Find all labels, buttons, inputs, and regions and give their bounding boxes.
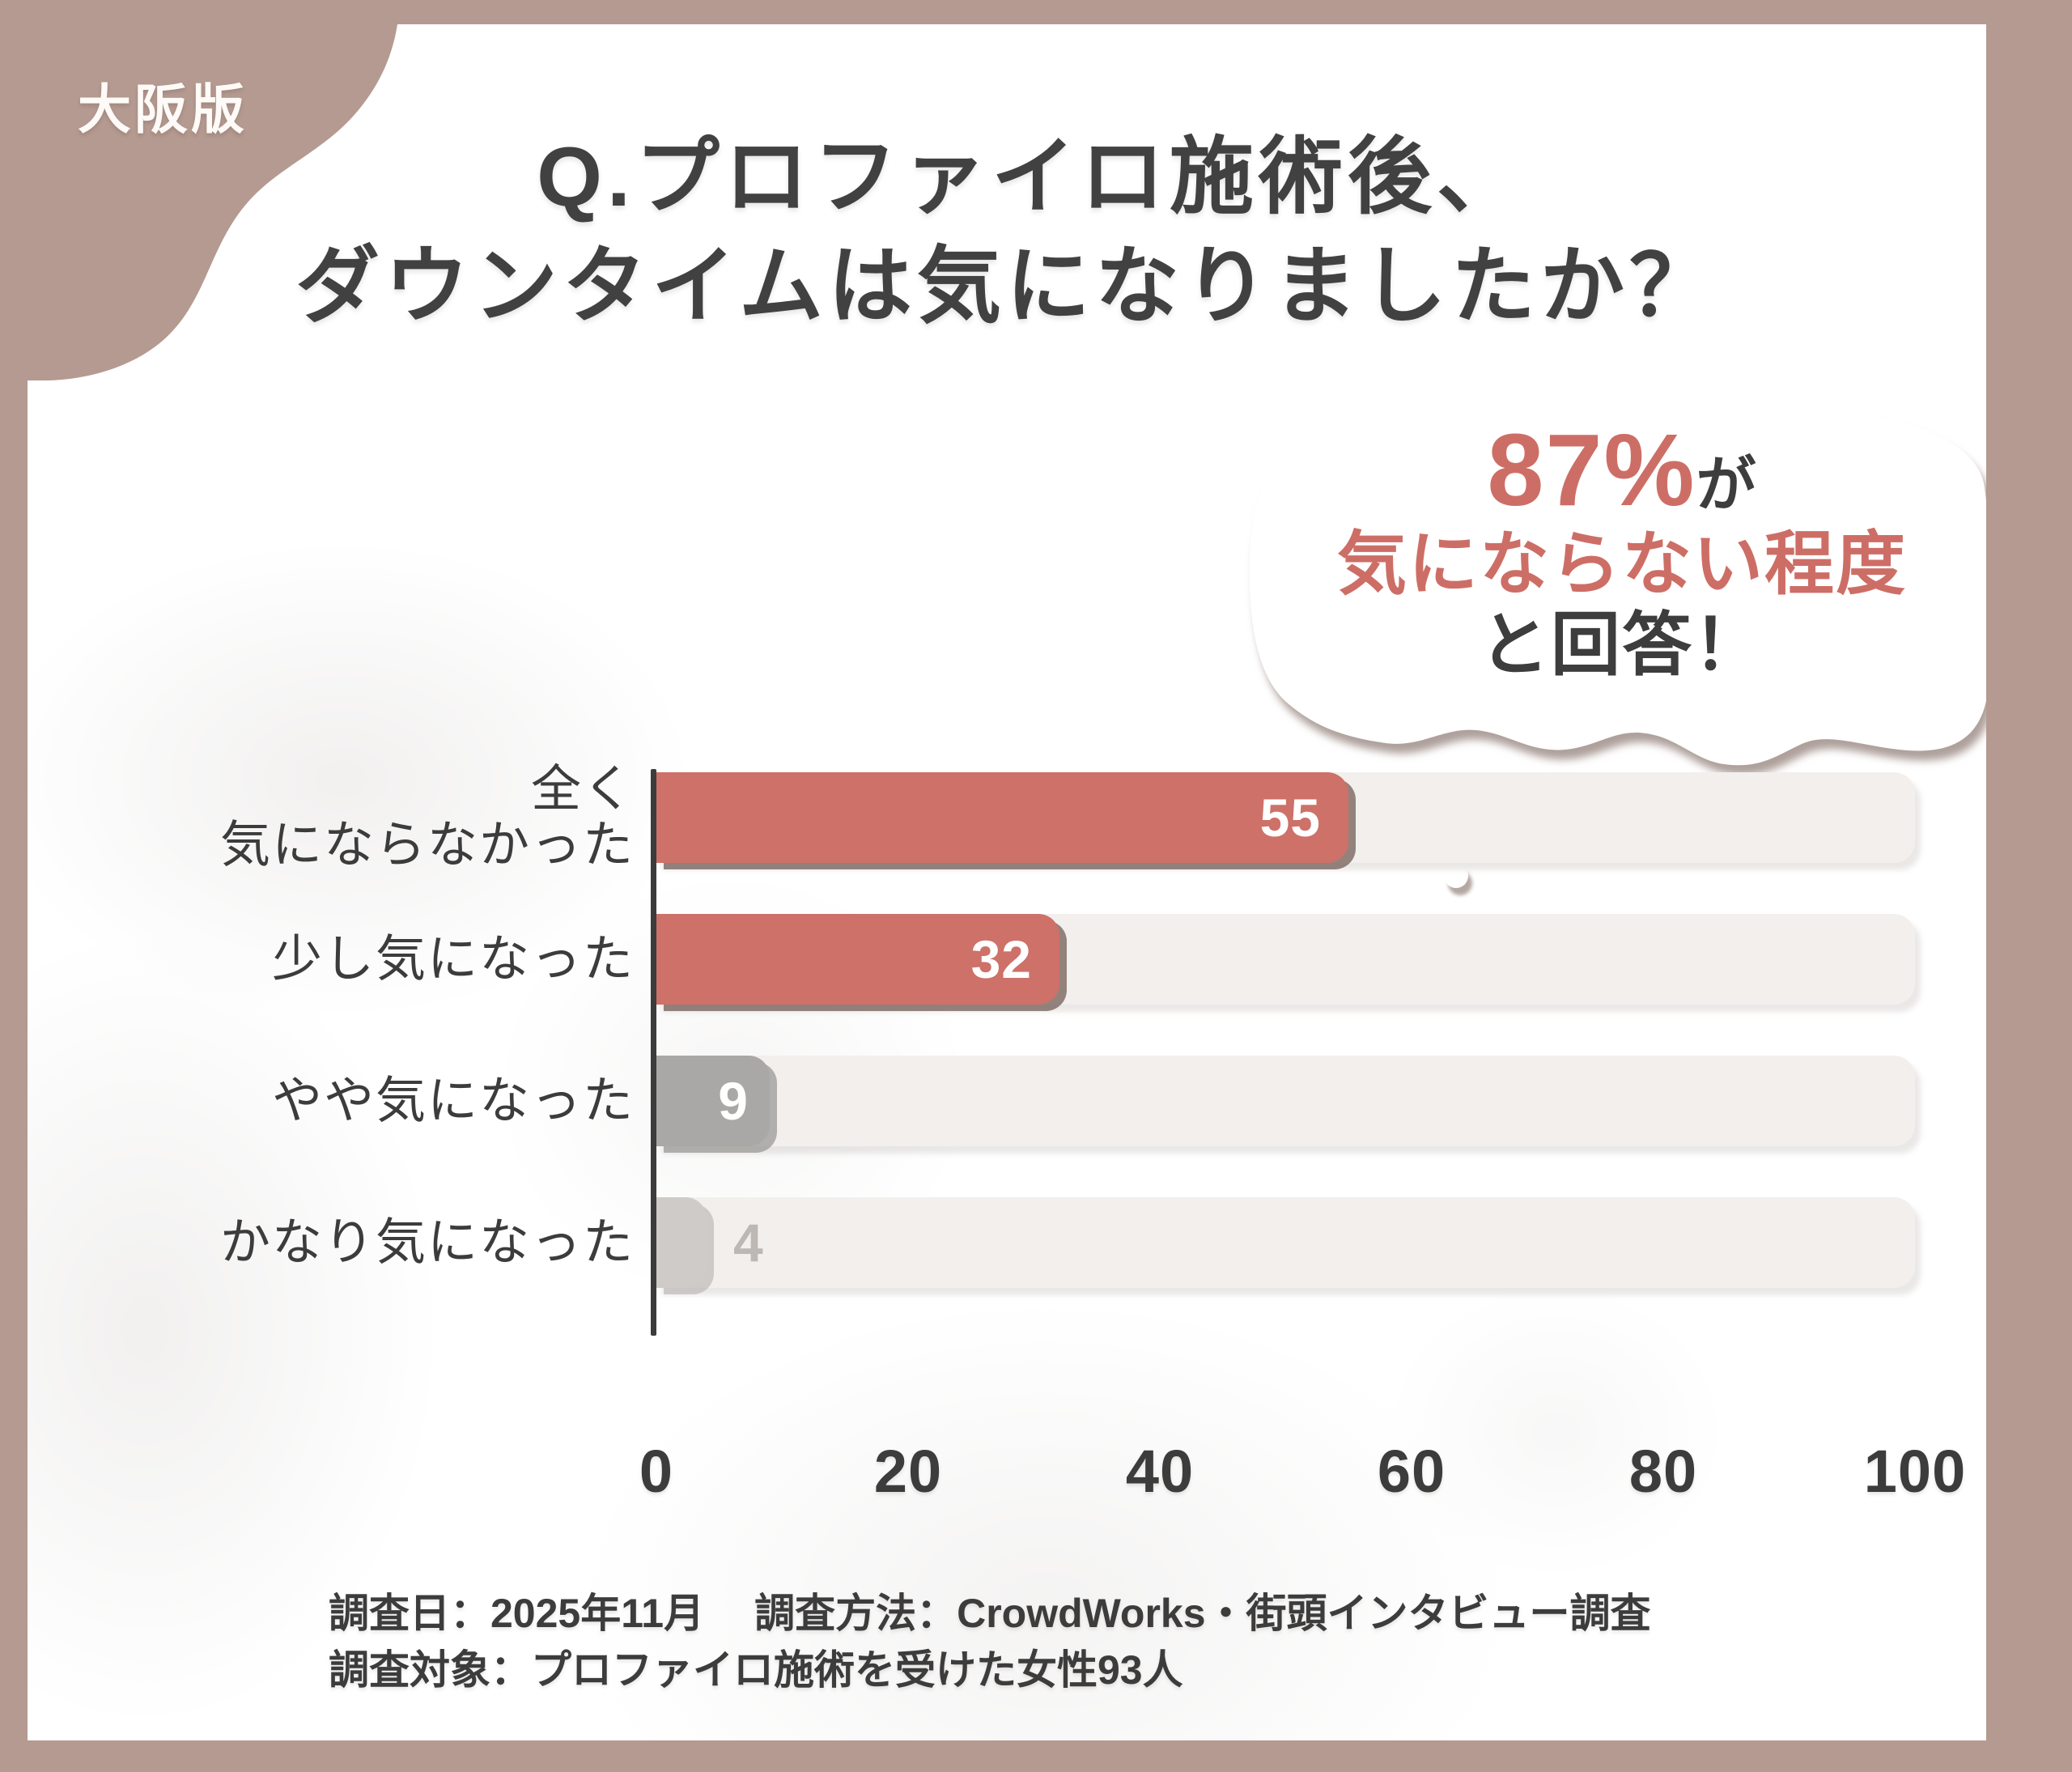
page-title: Q.プロファイロ施術後、 ダウンタイムは気になりましたか？ xyxy=(28,123,1986,342)
category-label-1-line-1: 少し気になった xyxy=(68,931,635,987)
x-tick-60: 60 xyxy=(1378,1437,1446,1506)
survey-date: 調査日：2025年11月 xyxy=(329,1591,704,1636)
bar-value-3: 4 xyxy=(733,1212,764,1273)
bar-0: 55 xyxy=(656,772,1348,863)
x-tick-0: 0 xyxy=(639,1437,673,1506)
footer-notes: 調査日：2025年11月調査方法：CrowdWorks・街頭インタビュー調査 調… xyxy=(329,1585,1651,1698)
bar-chart: 全く 気にならなかった 55 少し気になった 32 xyxy=(28,737,1986,1465)
chart-row: かなり気になった 4 xyxy=(28,1190,1986,1295)
category-label-3: かなり気になった xyxy=(68,1214,635,1270)
chart-row: 全く 気にならなかった 55 xyxy=(28,765,1986,870)
y-axis-line xyxy=(651,769,656,1336)
bar-value-0: 55 xyxy=(1260,787,1321,848)
chart-row: 少し気になった 32 xyxy=(28,907,1986,1012)
title-line-2: ダウンタイムは気になりましたか？ xyxy=(28,232,1986,342)
bar-value-2: 9 xyxy=(718,1070,749,1132)
bar-1: 32 xyxy=(656,914,1059,1005)
x-tick-100: 100 xyxy=(1864,1437,1966,1506)
category-label-0-line-2: 気にならなかった xyxy=(68,818,635,873)
bar-3 xyxy=(656,1197,707,1288)
chart-row: やや気になった 9 xyxy=(28,1048,1986,1154)
content-card: 大阪版 Q.プロファイロ施術後、 ダウンタイムは気になりましたか？ 87%が 気… xyxy=(28,24,1986,1740)
category-label-0-line-1: 全く xyxy=(68,762,635,818)
category-label-2-line-1: やや気になった xyxy=(68,1073,635,1128)
category-label-2: やや気になった xyxy=(68,1073,635,1128)
category-label-0: 全く 気にならなかった xyxy=(68,762,635,874)
x-tick-40: 40 xyxy=(1126,1437,1194,1506)
x-axis: 0 20 40 60 80 100 xyxy=(28,1437,1986,1526)
bar-track-3 xyxy=(656,1197,1915,1288)
bubble-shape xyxy=(1242,390,1986,795)
bar-2: 9 xyxy=(656,1056,770,1146)
category-label-3-line-1: かなり気になった xyxy=(68,1214,635,1270)
survey-method: 調査方法：CrowdWorks・街頭インタビュー調査 xyxy=(754,1591,1650,1636)
bar-value-1: 32 xyxy=(971,928,1032,990)
callout-bubble: 87%が 気にならない程度 と回答！ xyxy=(1242,390,1986,795)
title-line-1: Q.プロファイロ施術後、 xyxy=(28,123,1986,232)
footer-line-2: 調査対象：プロファイロ施術を受けた女性93人 xyxy=(329,1642,1651,1698)
bar-track-2 xyxy=(656,1056,1915,1146)
infographic-root: 大阪版 Q.プロファイロ施術後、 ダウンタイムは気になりましたか？ 87%が 気… xyxy=(0,0,2072,1772)
category-label-1: 少し気になった xyxy=(68,931,635,987)
footer-line-1: 調査日：2025年11月調査方法：CrowdWorks・街頭インタビュー調査 xyxy=(329,1585,1651,1642)
x-tick-20: 20 xyxy=(874,1437,942,1506)
x-tick-80: 80 xyxy=(1629,1437,1697,1506)
